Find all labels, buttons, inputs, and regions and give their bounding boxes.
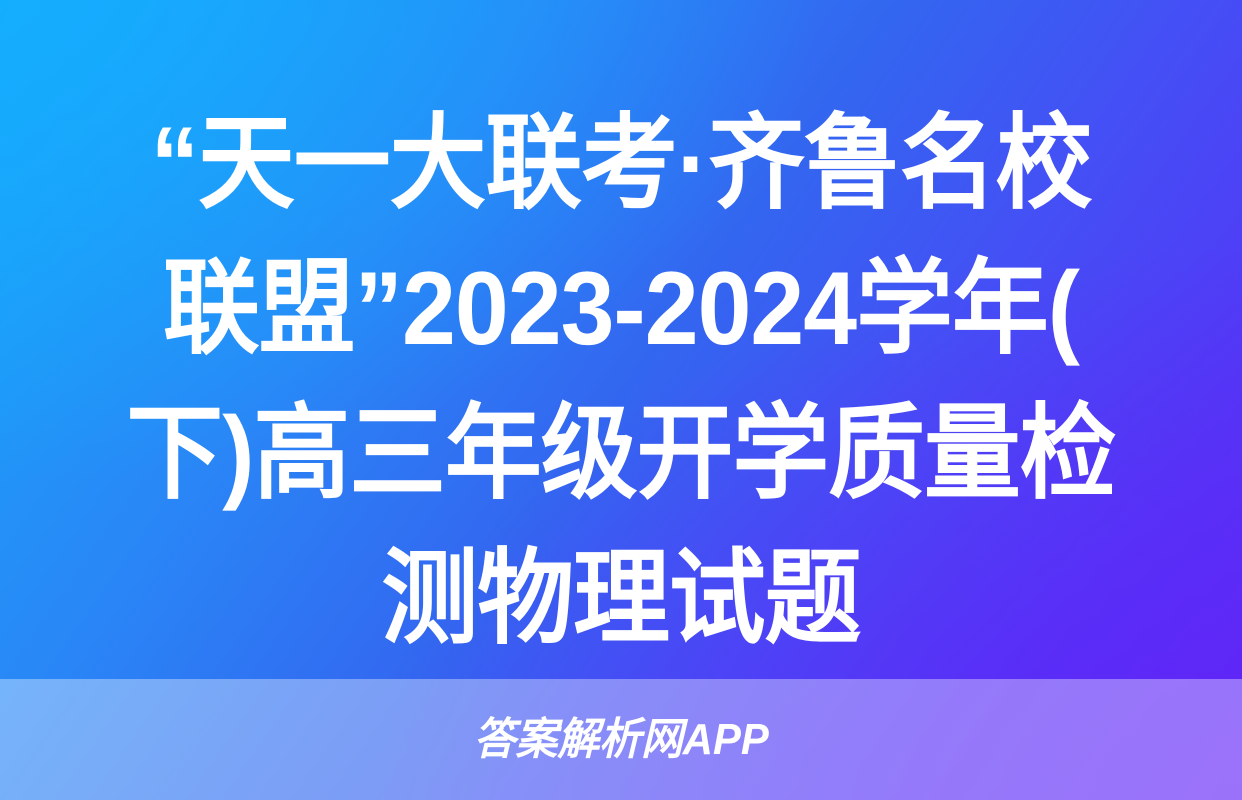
page-title: “天一大联考·齐鲁名校 联盟”2023-2024学年( 下)高三年级开学质量检 … bbox=[0, 92, 1242, 672]
title-line-3: 下)高三年级开学质量检 bbox=[116, 382, 1126, 527]
watermark-band: 答案解析网APP bbox=[0, 679, 1242, 800]
title-line-2: 联盟”2023-2024学年( bbox=[116, 237, 1126, 382]
title-line-4: 测物理试题 bbox=[116, 527, 1126, 672]
poster-canvas: “天一大联考·齐鲁名校 联盟”2023-2024学年( 下)高三年级开学质量检 … bbox=[0, 0, 1242, 800]
watermark-label: 答案解析网APP bbox=[474, 718, 769, 762]
title-line-1: “天一大联考·齐鲁名校 bbox=[116, 92, 1126, 237]
